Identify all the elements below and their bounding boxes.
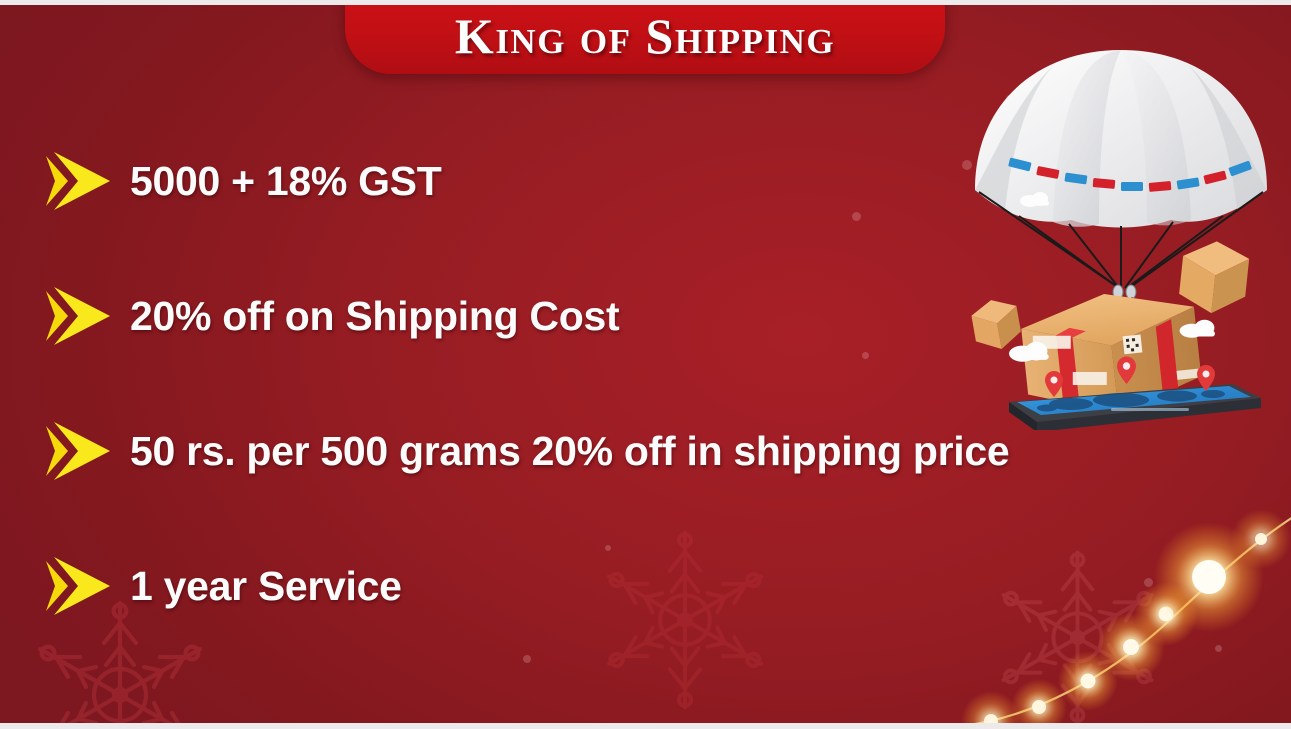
list-item: 20% off on Shipping Cost <box>44 277 1244 355</box>
double-chevron-arrow-icon <box>44 285 112 347</box>
promotional-banner: King of Shipping <box>0 0 1291 729</box>
top-edge-strip <box>0 0 1291 5</box>
double-chevron-arrow-icon <box>44 150 112 212</box>
bottom-edge-strip <box>0 723 1291 729</box>
list-item: 50 rs. per 500 grams 20% off in shipping… <box>44 412 1244 490</box>
page-title: King of Shipping <box>455 0 835 61</box>
offer-text: 1 year Service <box>130 563 402 610</box>
title-badge: King of Shipping <box>345 0 945 74</box>
double-chevron-arrow-icon <box>44 555 112 617</box>
double-chevron-arrow-icon <box>44 420 112 482</box>
list-item: 5000 + 18% GST <box>44 142 1244 220</box>
offer-text: 20% off on Shipping Cost <box>130 293 619 340</box>
list-item: 1 year Service <box>44 547 1244 625</box>
offer-text: 50 rs. per 500 grams 20% off in shipping… <box>130 428 1009 475</box>
offer-list: 5000 + 18% GST 20% off on Shipping Cost … <box>44 142 1244 682</box>
offer-text: 5000 + 18% GST <box>130 158 441 205</box>
